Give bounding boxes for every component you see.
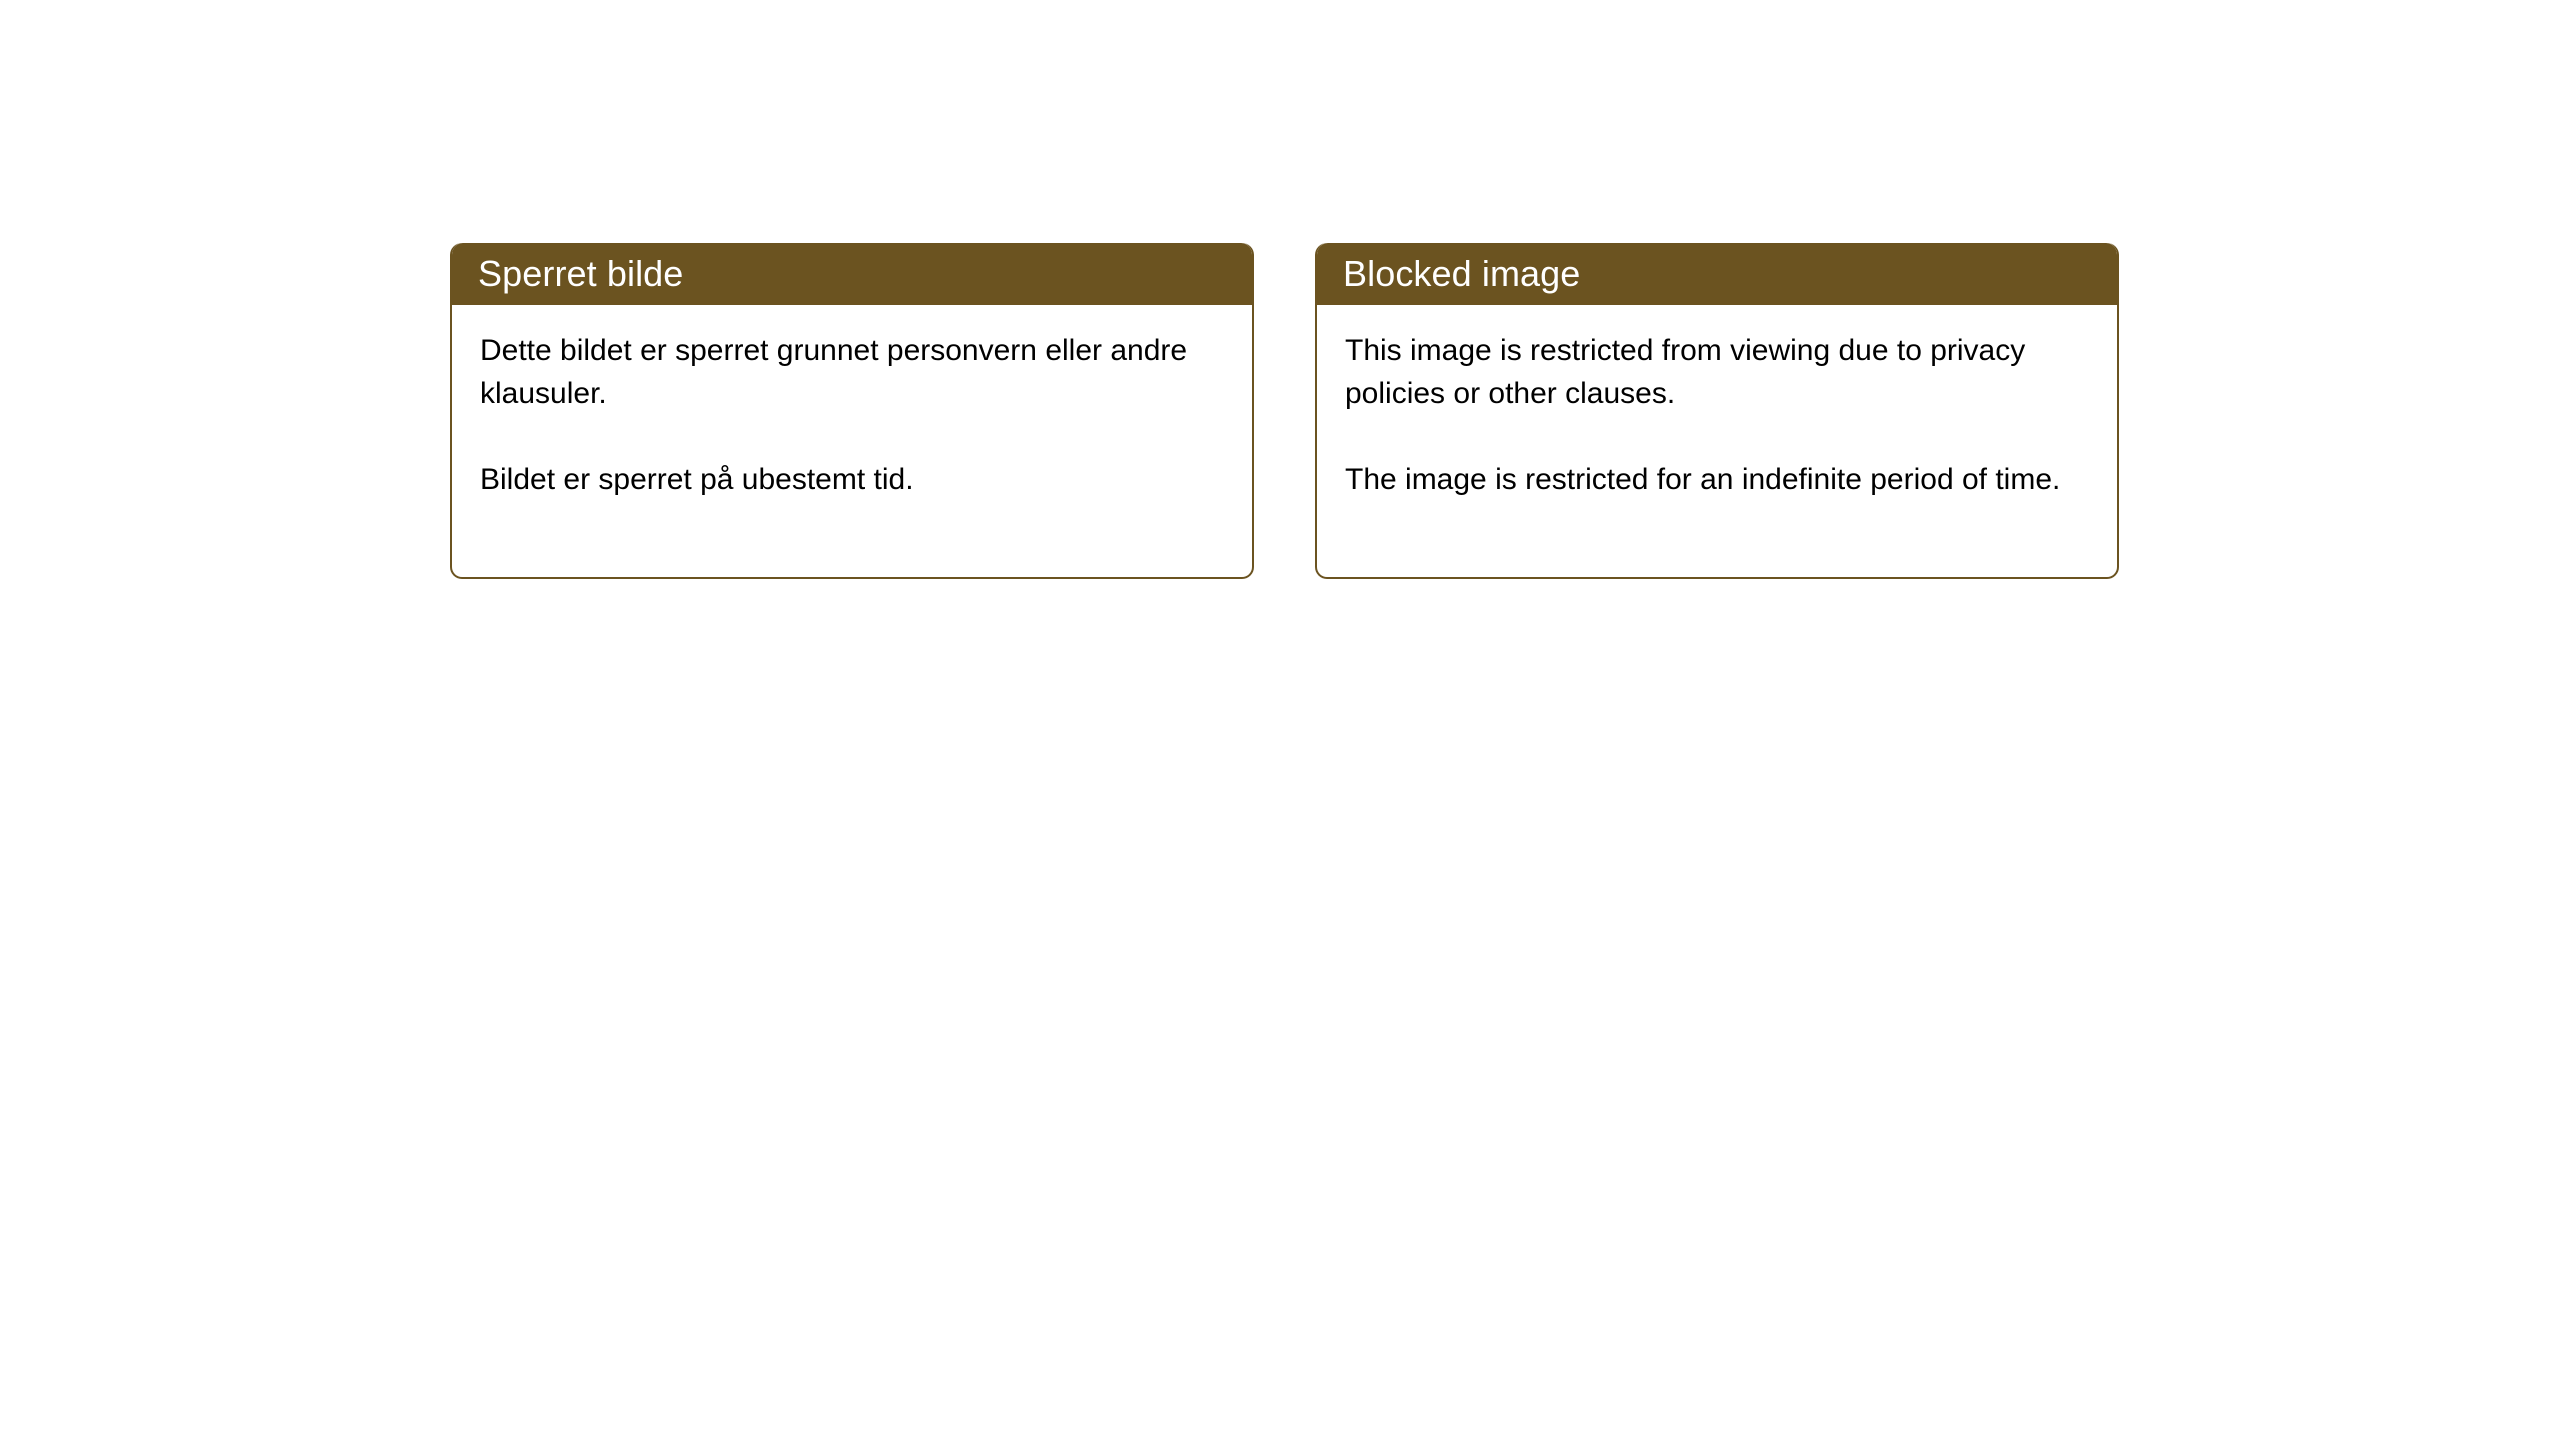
card-title-norwegian: Sperret bilde (478, 256, 683, 292)
card-header-english: Blocked image (1317, 243, 2117, 305)
card-body-english: This image is restricted from viewing du… (1317, 305, 2117, 577)
card-paragraph-primary-norwegian: Dette bildet er sperret grunnet personve… (480, 329, 1220, 415)
card-paragraph-primary-english: This image is restricted from viewing du… (1345, 329, 2085, 415)
card-header-norwegian: Sperret bilde (452, 243, 1252, 305)
blocked-image-card-english: Blocked image This image is restricted f… (1315, 243, 2119, 579)
page-canvas: Sperret bilde Dette bildet er sperret gr… (0, 0, 2560, 1440)
card-body-norwegian: Dette bildet er sperret grunnet personve… (452, 305, 1252, 577)
card-paragraph-secondary-english: The image is restricted for an indefinit… (1345, 458, 2085, 501)
blocked-image-card-norwegian: Sperret bilde Dette bildet er sperret gr… (450, 243, 1254, 579)
card-title-english: Blocked image (1343, 256, 1580, 292)
card-paragraph-secondary-norwegian: Bildet er sperret på ubestemt tid. (480, 458, 1220, 501)
